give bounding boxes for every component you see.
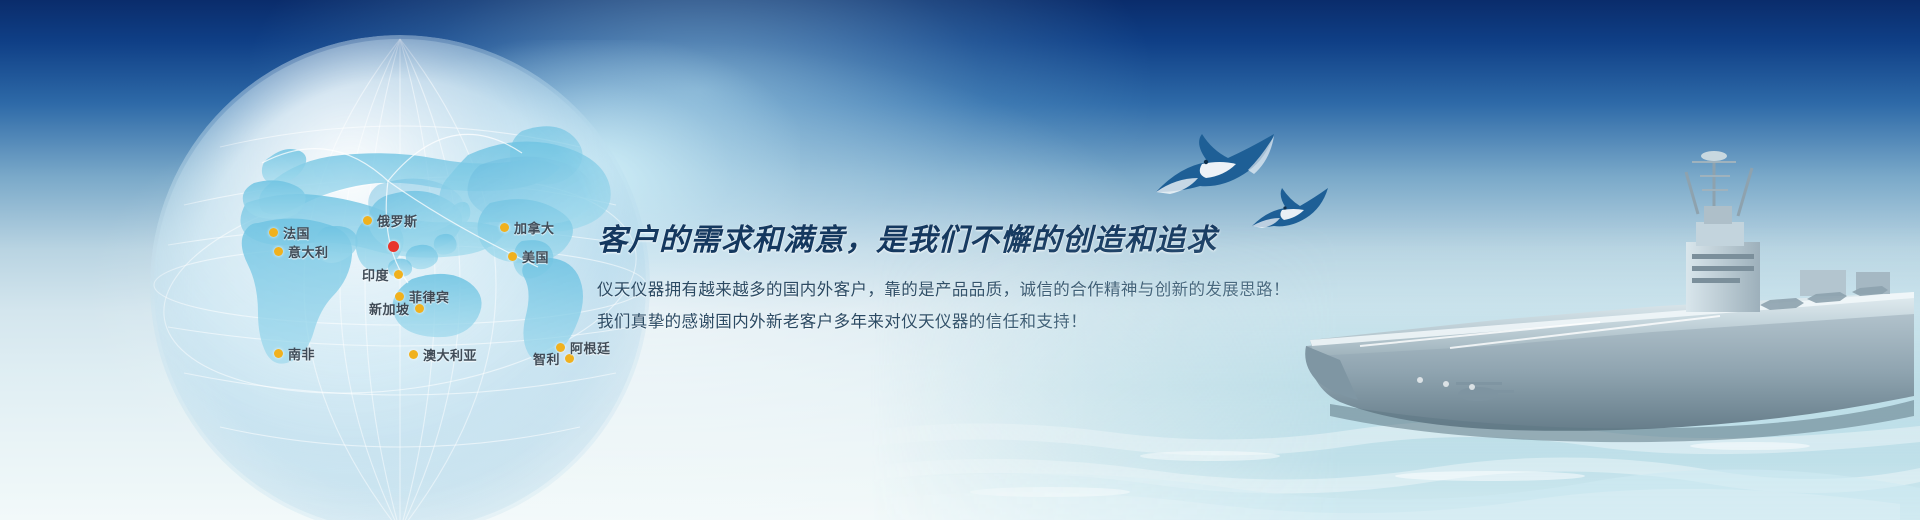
globe-marker: 澳大利亚 xyxy=(409,345,477,364)
globe-marker: 美国 xyxy=(508,247,549,266)
hero-banner: 法国意大利俄罗斯加拿大美国印度菲律宾新加坡南非澳大利亚智利阿根廷 客户的需求和满… xyxy=(0,0,1920,520)
marker-dot-icon xyxy=(556,343,565,352)
marker-dot-icon xyxy=(415,304,424,313)
marker-dot-icon xyxy=(274,247,283,256)
marker-dot-icon xyxy=(409,350,418,359)
marker-dot-icon xyxy=(269,228,278,237)
globe-marker: 新加坡 xyxy=(369,299,424,318)
globe-marker-label: 意大利 xyxy=(288,242,329,261)
globe-marker-label: 俄罗斯 xyxy=(377,211,418,230)
aircraft-carrier-icon xyxy=(1300,150,1920,480)
globe-marker: 南非 xyxy=(274,344,315,363)
globe-marker-label: 澳大利亚 xyxy=(423,345,477,364)
marker-dot-home-icon xyxy=(388,241,399,252)
globe-marker: 意大利 xyxy=(274,242,329,261)
marker-dot-icon xyxy=(363,216,372,225)
globe-marker: 印度 xyxy=(362,265,403,284)
marker-dot-icon xyxy=(394,270,403,279)
globe-marker: 法国 xyxy=(269,223,310,242)
globe-marker-label: 加拿大 xyxy=(514,218,555,237)
globe-marker-label: 阿根廷 xyxy=(570,338,611,357)
marker-dot-icon xyxy=(274,349,283,358)
globe-marker-label: 新加坡 xyxy=(369,299,410,318)
globe-marker-label: 法国 xyxy=(283,223,310,242)
globe-marker: 俄罗斯 xyxy=(363,211,418,230)
globe-marker-home xyxy=(388,241,399,252)
marker-dot-icon xyxy=(508,252,517,261)
marker-dot-icon xyxy=(500,223,509,232)
globe-marker: 阿根廷 xyxy=(556,338,611,357)
world-globe: 法国意大利俄罗斯加拿大美国印度菲律宾新加坡南非澳大利亚智利阿根廷 xyxy=(150,95,670,425)
globe-marker: 加拿大 xyxy=(500,218,555,237)
globe-marker-label: 印度 xyxy=(362,265,389,284)
globe-marker-label: 南非 xyxy=(288,344,315,363)
globe-marker-label: 美国 xyxy=(522,247,549,266)
